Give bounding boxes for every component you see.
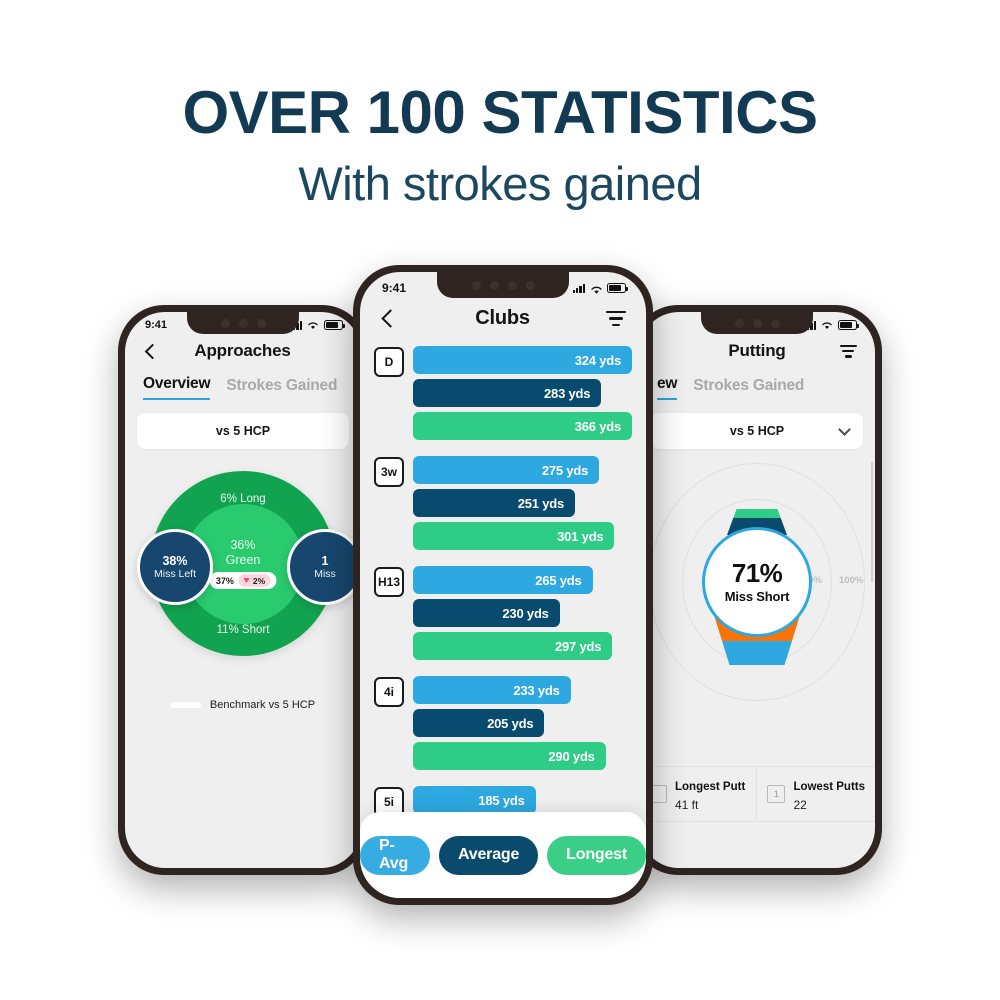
benchmark-swatch	[171, 702, 201, 708]
club-group: 3w 275 yds 251 yds 301 yds	[374, 456, 632, 550]
bar-longest: 297 yds	[413, 632, 612, 660]
header-spacer	[326, 345, 343, 358]
green-label: Green	[226, 553, 261, 568]
marketing-screenshot: OVER 100 STATISTICS With strokes gained …	[0, 0, 1000, 1000]
stat-value: 22	[793, 798, 865, 812]
page-title: OVER 100 STATISTICS	[0, 82, 1000, 144]
benchmark-legend: Benchmark vs 5 HCP	[125, 699, 361, 711]
stat-card-longest-putt[interactable]: Longest Putt 41 ft	[639, 767, 756, 821]
filter-icon[interactable]	[606, 311, 626, 326]
legend-button-pavg[interactable]: P-Avg	[360, 836, 430, 875]
putting-label: Miss Short	[725, 589, 789, 604]
approach-dispersion-chart: 6% Long 11% Short 36% Green 37% 2%	[125, 463, 361, 693]
legend-button-longest[interactable]: Longest	[547, 836, 646, 875]
putting-percent: 71%	[732, 560, 782, 586]
miss-right-label: Miss	[314, 568, 336, 580]
ring-label-100: 100%	[839, 575, 863, 586]
bar-average: 251 yds	[413, 489, 575, 517]
club-tag[interactable]: 4i	[374, 677, 404, 707]
phone-notch	[437, 272, 569, 298]
green-delta-badge: 37% 2%	[210, 572, 276, 589]
battery-icon	[838, 320, 857, 330]
miss-right-percent: 1	[322, 554, 329, 568]
miss-left-percent: 38%	[162, 554, 187, 568]
clubs-list[interactable]: D 324 yds 283 yds 366 yds 3w 275 yds 251…	[360, 342, 646, 847]
phone-notch	[187, 312, 299, 334]
back-chevron-icon[interactable]	[380, 309, 399, 328]
bar-pavg: 324 yds	[413, 346, 632, 374]
screen-title: Clubs	[475, 307, 530, 330]
filter-icon[interactable]	[840, 345, 857, 358]
chevron-down-icon	[838, 423, 851, 436]
bar-pavg: 233 yds	[413, 676, 571, 704]
club-group: H13 265 yds 230 yds 297 yds	[374, 566, 632, 660]
bar-pavg: 185 yds	[413, 786, 536, 814]
wifi-icon	[821, 321, 833, 330]
club-group: D 324 yds 283 yds 366 yds	[374, 346, 632, 440]
club-group: 4i 233 yds 205 yds 290 yds	[374, 676, 632, 770]
stat-card-lowest-putts[interactable]: 1 Lowest Putts 22	[756, 767, 875, 821]
badge-delta-pill: 2%	[239, 574, 270, 587]
tab-strokes-gained[interactable]: Strokes Gained	[693, 377, 804, 400]
tab-overview[interactable]: ew	[657, 375, 677, 400]
bar-average: 283 yds	[413, 379, 601, 407]
bar-pavg: 265 yds	[413, 566, 593, 594]
legend-button-average[interactable]: Average	[439, 836, 538, 875]
stat-value: 41 ft	[675, 798, 745, 812]
signal-icon	[573, 284, 585, 293]
tab-overview[interactable]: Overview	[143, 375, 210, 400]
wifi-icon	[590, 284, 602, 293]
benchmark-label: Benchmark vs 5 HCP	[210, 699, 315, 711]
hcp-select[interactable]: vs 5 HCP	[137, 413, 349, 449]
stat-label: Lowest Putts	[793, 781, 865, 793]
badge-value: 37%	[216, 576, 234, 586]
miss-left-bubble: 38% Miss Left	[137, 529, 213, 605]
battery-icon	[607, 283, 626, 293]
page-subtitle: With strokes gained	[0, 158, 1000, 210]
status-time: 9:41	[145, 319, 167, 331]
miss-left-label: Miss Left	[154, 568, 196, 580]
club-tag[interactable]: 3w	[374, 457, 404, 487]
hcp-select[interactable]: vs 5 HCP	[651, 413, 863, 449]
phone-mockup-approaches: 9:41 Approaches Overview Strokes Gained	[118, 305, 368, 875]
stat-label: Longest Putt	[675, 781, 745, 793]
badge-delta: 2%	[253, 576, 265, 586]
back-chevron-icon[interactable]	[143, 343, 159, 359]
scrollbar[interactable]	[871, 462, 874, 582]
miss-right-bubble: 1 Miss	[287, 529, 361, 605]
club-tag[interactable]: H13	[374, 567, 404, 597]
bar-pavg: 275 yds	[413, 456, 599, 484]
tab-strokes-gained[interactable]: Strokes Gained	[226, 377, 337, 400]
headline-block: OVER 100 STATISTICS With strokes gained	[0, 82, 1000, 210]
tab-bar: ew Strokes Gained	[639, 371, 875, 400]
wifi-icon	[307, 321, 319, 330]
hcp-value: vs 5 HCP	[216, 424, 270, 438]
putting-center-stat: 71% Miss Short	[702, 527, 812, 637]
putting-dispersion-chart: 50% 100% 71% Miss Short	[639, 457, 875, 707]
app-header: Putting	[639, 333, 875, 371]
scorecard-icon: 1	[767, 785, 785, 803]
screen-title: Approaches	[194, 341, 290, 361]
bar-longest: 301 yds	[413, 522, 614, 550]
bar-longest: 290 yds	[413, 742, 606, 770]
stat-card-row: Longest Putt 41 ft 1 Lowest Putts 22	[639, 766, 875, 822]
phone-notch	[701, 312, 813, 334]
tab-bar: Overview Strokes Gained	[125, 371, 361, 400]
status-time: 9:41	[382, 281, 406, 295]
phone-mockup-putting: 9:41 Putting ew Strokes Gained	[632, 305, 882, 875]
label-short: 11% Short	[217, 624, 270, 636]
header-spacer	[657, 345, 674, 358]
legend-button-bar: P-Avg Average Longest	[360, 812, 646, 898]
battery-icon	[324, 320, 343, 330]
bar-average: 205 yds	[413, 709, 544, 737]
hcp-value: vs 5 HCP	[730, 424, 784, 438]
club-tag[interactable]: D	[374, 347, 404, 377]
screen-title: Putting	[728, 341, 785, 361]
app-header: Clubs	[360, 297, 646, 342]
app-header: Approaches	[125, 333, 361, 371]
phone-mockup-clubs: 9:41 Clubs D 324 yds	[353, 265, 653, 905]
bar-longest: 366 yds	[413, 412, 632, 440]
green-percent: 36%	[230, 538, 255, 553]
bar-average: 230 yds	[413, 599, 560, 627]
arrow-down-icon	[244, 578, 250, 583]
